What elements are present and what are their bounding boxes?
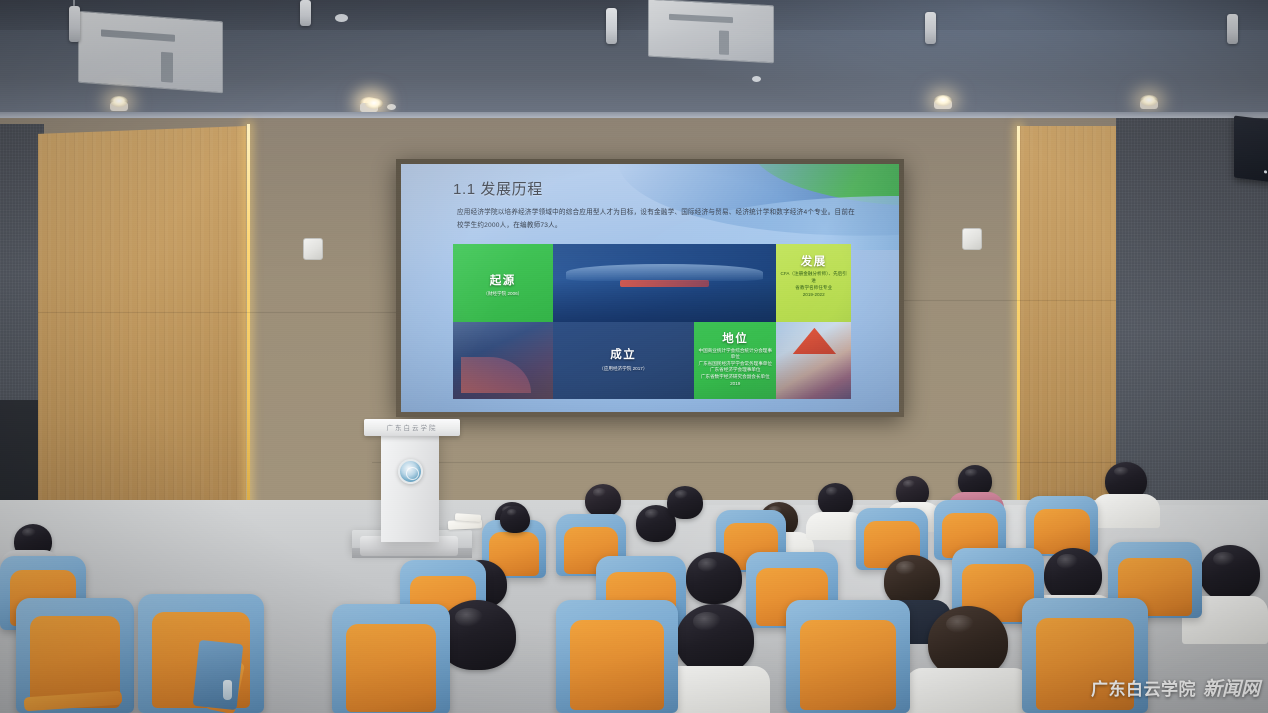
slide-photo-campus xyxy=(553,244,777,322)
slide-cell-development: 发展 CFA（注册金融分析师）、先后引进 省教学名师任专业 2019-2022 xyxy=(776,244,851,322)
panel-seam xyxy=(372,462,1132,463)
audience-shoulders xyxy=(906,668,1030,713)
panel-seam xyxy=(38,312,402,313)
audience-head xyxy=(500,506,530,533)
led-light-strip xyxy=(247,124,250,516)
wood-wall-left xyxy=(38,126,246,520)
wall-access-panel xyxy=(303,238,323,260)
ceiling-smoke-detector xyxy=(752,76,761,82)
slide-cell-title: 发展 xyxy=(776,253,851,269)
projection-screen-frame: 1.1 发展历程 应用经济学院以培养经济学领域中的综合应用型人才为目标，设有金融… xyxy=(396,159,904,417)
slide-grid: 起源 （财经学院 2006） 发展 CFA（注册金融分析师）、先后引进 省教学名… xyxy=(453,244,851,399)
slide-cell-sub: 中国商业统计学会综合统计分会理事单位 广东省国民经济学学会常务理事单位 广东省经… xyxy=(698,348,772,388)
ceiling-spotlight xyxy=(110,96,128,107)
slide-photo-night xyxy=(453,322,553,400)
water-bottle xyxy=(223,680,232,700)
audience-head xyxy=(686,552,742,604)
podium-emblem xyxy=(398,459,423,484)
slide-cell-title: 地位 xyxy=(694,330,776,346)
slide-cell-title: 起源 xyxy=(453,272,553,288)
audience-head xyxy=(585,484,621,517)
audience-head xyxy=(667,486,703,519)
track-light xyxy=(1227,14,1238,44)
wood-wall-right xyxy=(1020,126,1118,520)
ac-vent xyxy=(648,0,774,63)
watermark-sub: 新闻网 xyxy=(1203,674,1260,701)
slide-cell-sub: （应用经济学院 2017） xyxy=(557,365,691,372)
ceiling-spotlight xyxy=(934,95,952,106)
slide-cell-founding: 成立 （应用经济学院 2017） xyxy=(553,322,695,400)
watermark-main: 广东白云学院 xyxy=(1091,675,1196,700)
slide-body-text: 应用经济学院以培养经济学领域中的综合应用型人才为目标，设有金融学、国际经济与贸易… xyxy=(457,207,857,233)
seat-cushion xyxy=(570,620,664,710)
wall-access-panel xyxy=(962,228,982,250)
acoustic-wall-left xyxy=(0,124,44,424)
seat[interactable] xyxy=(16,598,134,713)
slide-cell-origin: 起源 （财经学院 2006） xyxy=(453,244,553,322)
slide-cell-status: 地位 中国商业统计学会综合统计分会理事单位 广东省国民经济学学会常务理事单位 广… xyxy=(694,322,776,400)
wall-speaker xyxy=(1234,116,1268,183)
seat-cushion xyxy=(800,620,896,710)
ceiling-smoke-detector xyxy=(387,104,396,110)
slide-cell-title: 成立 xyxy=(553,346,695,362)
ceiling-smoke-detector xyxy=(335,14,348,22)
podium-label: 广东白云学院 xyxy=(366,422,458,432)
auditorium-photo: 1.1 发展历程 应用经济学院以培养经济学领域中的综合应用型人才为目标，设有金融… xyxy=(0,0,1268,713)
panel-seam xyxy=(898,300,1118,301)
speaker-led xyxy=(1264,170,1267,173)
seat[interactable] xyxy=(332,604,450,713)
audience-head xyxy=(1044,548,1102,602)
track-light xyxy=(925,12,936,44)
slide-title: 1.1 发展历程 xyxy=(453,178,543,199)
seat[interactable] xyxy=(786,600,910,713)
seat-cushion xyxy=(346,624,436,712)
audience-head xyxy=(1200,545,1260,601)
slide-photo-building xyxy=(776,322,851,400)
track-light xyxy=(69,6,80,42)
audience-head xyxy=(676,604,754,674)
watermark: 广东白云学院 新闻网 xyxy=(1091,674,1260,701)
track-light xyxy=(300,0,311,26)
slide-cell-sub: CFA（注册金融分析师）、先后引进 省教学名师任专业 2019-2022 xyxy=(780,270,847,298)
audience-shoulders xyxy=(1092,494,1160,528)
ceiling xyxy=(0,0,1268,126)
seat-side-panel xyxy=(193,640,244,710)
slide-cell-sub: （财经学院 2006） xyxy=(457,290,549,297)
track-light xyxy=(606,8,617,44)
ac-vent xyxy=(78,11,223,94)
seat[interactable] xyxy=(1026,496,1098,556)
seat[interactable] xyxy=(556,600,678,713)
projection-screen: 1.1 发展历程 应用经济学院以培养经济学领域中的综合应用型人才为目标，设有金融… xyxy=(401,164,899,412)
ceiling-spotlight xyxy=(1140,95,1158,106)
ceiling-spotlight xyxy=(365,98,383,109)
podium-body xyxy=(381,432,439,542)
